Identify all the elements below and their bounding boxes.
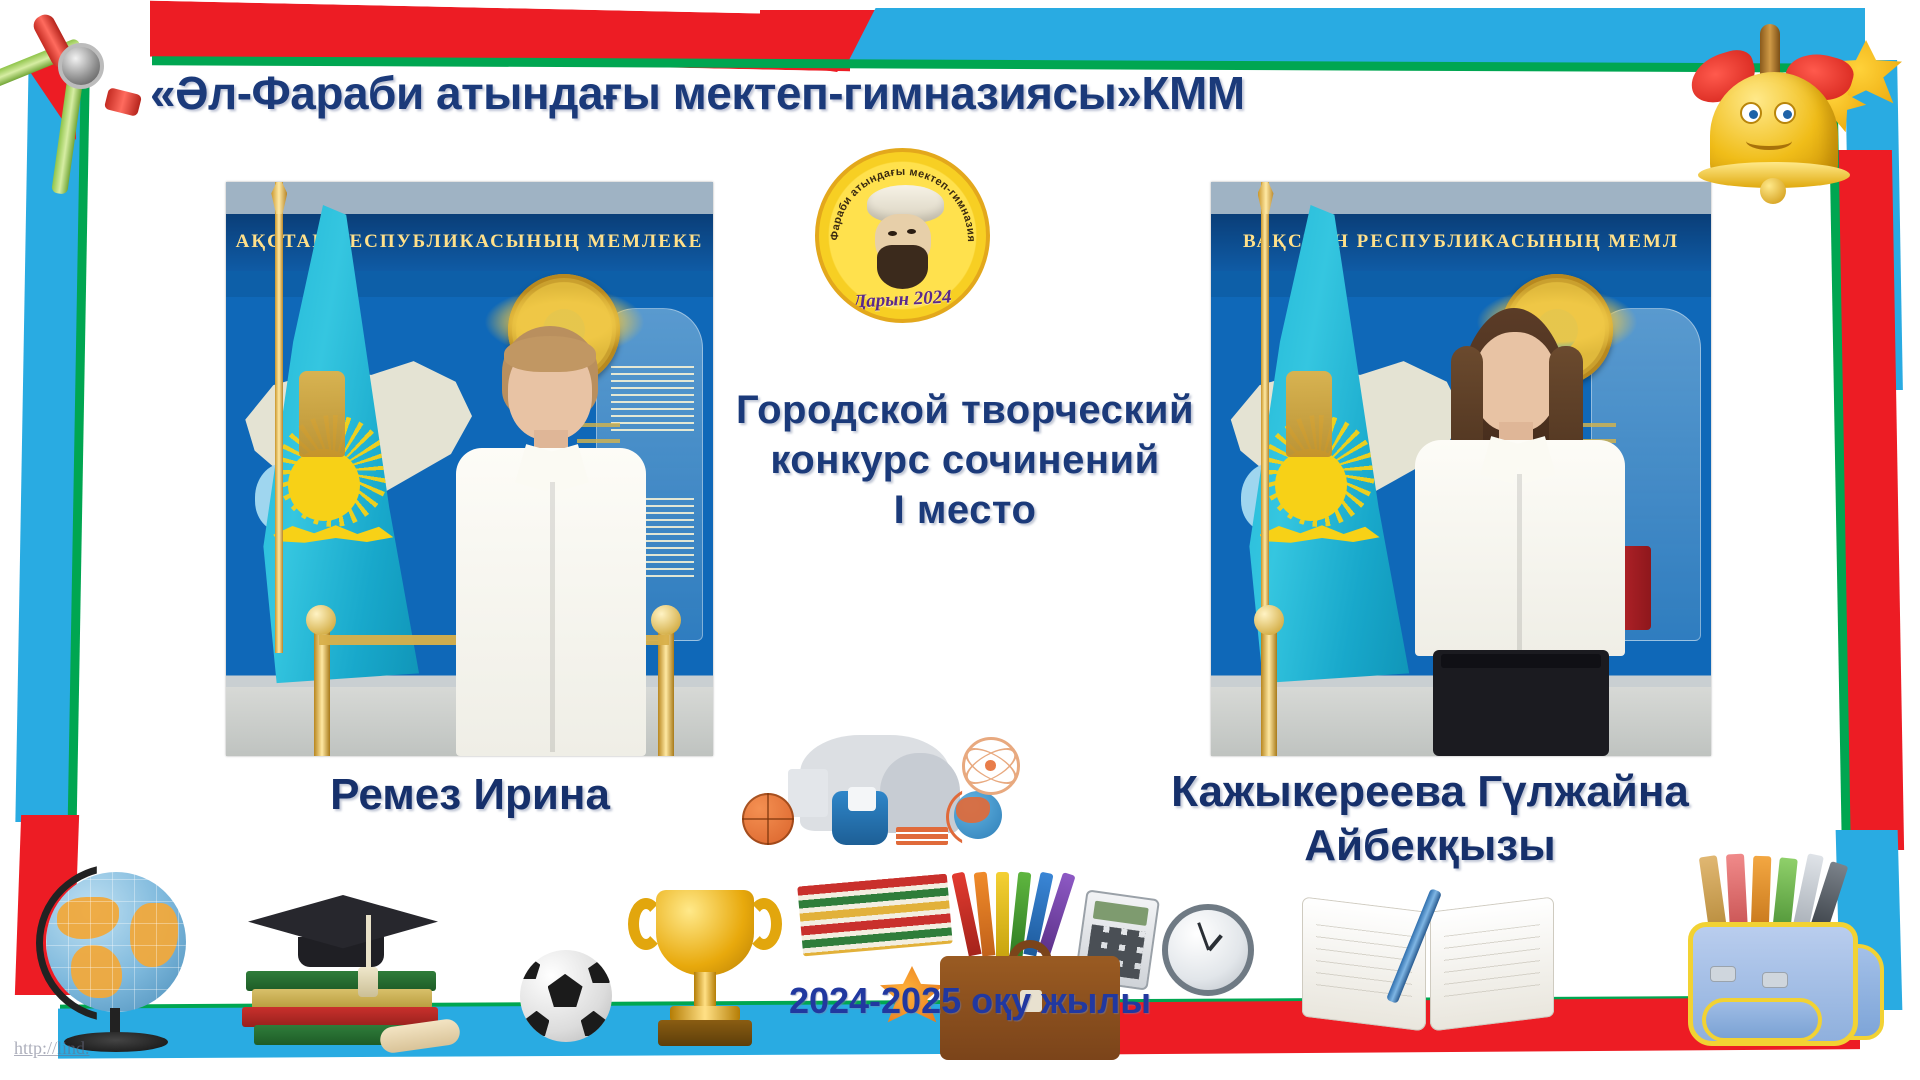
- al-farabi-portrait-icon: [866, 185, 946, 289]
- bell-smile: [1746, 132, 1792, 150]
- ball-pentagon-2: [520, 956, 540, 980]
- stacked-books-icon: [797, 874, 953, 957]
- computer-monitor-icon: [788, 769, 828, 817]
- backpack-front-pocket: [1702, 998, 1822, 1042]
- photo-right-banner-text: ВАҚСТАН РЕСПУБЛИКАСЫНЫҢ МЕМЛ: [1211, 214, 1711, 271]
- flag-tassel: [299, 371, 345, 457]
- backpack-icon: [1670, 848, 1900, 1058]
- award-caption-line-1: Городской творческий: [585, 385, 1345, 435]
- school-bell-icon: [1668, 10, 1908, 200]
- cap-tassel-cord: [366, 915, 371, 971]
- compass-knob: [104, 87, 142, 117]
- graduation-cap-icon: [230, 885, 460, 1055]
- name-right-line-1: Кажыкереева Гүлжайна: [1080, 765, 1780, 819]
- person-head: [1473, 332, 1557, 432]
- name-left-student: Ремез Ирина: [160, 770, 780, 820]
- name-right-teacher: Кажыкереева Гүлжайна Айбекқызы: [1080, 765, 1780, 872]
- trophy-icon: [630, 880, 780, 1060]
- bell-clapper: [1760, 178, 1786, 204]
- atom-icon: [962, 737, 1020, 795]
- award-caption-line-3: I место: [585, 485, 1345, 535]
- ball-pentagon-3: [588, 959, 612, 983]
- trophy-stem: [694, 972, 716, 1008]
- ball-pentagon-5: [581, 1011, 607, 1037]
- bell-eye-right: [1774, 102, 1796, 124]
- person-belt: [1441, 654, 1601, 668]
- portrait-beard: [877, 245, 928, 288]
- flag-sun-disc: [288, 449, 360, 521]
- cap-mortarboard: [248, 895, 438, 953]
- shirt-button-placket: [1517, 474, 1522, 654]
- compass-icon: [10, 5, 170, 205]
- calculator-screen: [1093, 901, 1149, 926]
- stanchion-ball-left: [1254, 605, 1284, 635]
- bell-pupil-left: [1749, 110, 1758, 119]
- flag-pole: [275, 182, 283, 653]
- award-caption-line-2: конкурс сочинений: [585, 435, 1345, 485]
- photo-left-banner-text: АҚСТАН РЕСПУБЛИКАСЫНЫҢ МЕМЛЕКЕ: [226, 214, 713, 271]
- pencil-yellow: [996, 872, 1009, 956]
- shirt-button-placket: [550, 482, 555, 752]
- open-book-right-page: [1430, 896, 1554, 1031]
- school-year-label: 2024-2025 оқу жылы: [760, 980, 1180, 1022]
- ball-pentagon-1: [548, 974, 583, 1007]
- award-caption: Городской творческий конкурс сочинений I…: [585, 385, 1345, 535]
- person-figure-teacher: [1411, 306, 1631, 756]
- backpack-clip-left: [1710, 966, 1736, 982]
- open-book-icon: [1300, 890, 1560, 1040]
- books-stack-icon: [896, 827, 948, 845]
- backpack-clip-right: [1762, 972, 1788, 988]
- ball-pentagon-4: [524, 1011, 550, 1037]
- school-supplies-icon: [740, 735, 1020, 855]
- atom-nucleus: [985, 760, 995, 770]
- book-text-lines-right: [1444, 924, 1540, 1006]
- desk-supplies-icon: [790, 860, 1350, 1060]
- bell-pupil-right: [1783, 110, 1792, 119]
- trophy-cup: [656, 890, 754, 976]
- cap-tassel-end: [358, 967, 378, 997]
- stanchion-post-left: [1261, 630, 1277, 756]
- school-emblem-badge: әл-Фараби атындағы мектеп-гимназиясы Дар…: [815, 148, 990, 323]
- clock-minute-hand: [1197, 922, 1210, 950]
- name-right-line-2: Айбекқызы: [1080, 819, 1780, 873]
- watermark-url: http://lind.: [14, 1038, 90, 1059]
- trophy-base-lower: [658, 1020, 752, 1046]
- globe-icon: [18, 858, 218, 1058]
- page-title: «Әл-Фараби атындағы мектеп-гимназиясы»КМ…: [150, 66, 1470, 120]
- portrait-eye-left: [888, 231, 897, 236]
- portrait-eye-right: [907, 229, 916, 234]
- bell-handle: [1760, 24, 1780, 78]
- ball-sphere: [520, 950, 612, 1042]
- bell-eye-left: [1740, 102, 1762, 124]
- book-green-1: [246, 971, 436, 991]
- compass-hinge: [58, 43, 104, 89]
- soccer-ball-icon: [520, 950, 612, 1042]
- award-poster: «Әл-Фараби атындағы мектеп-гимназиясы»КМ…: [0, 0, 1920, 1080]
- schoolbag-flap: [848, 787, 876, 811]
- person-fringe: [504, 336, 596, 372]
- book-yellow: [252, 989, 432, 1009]
